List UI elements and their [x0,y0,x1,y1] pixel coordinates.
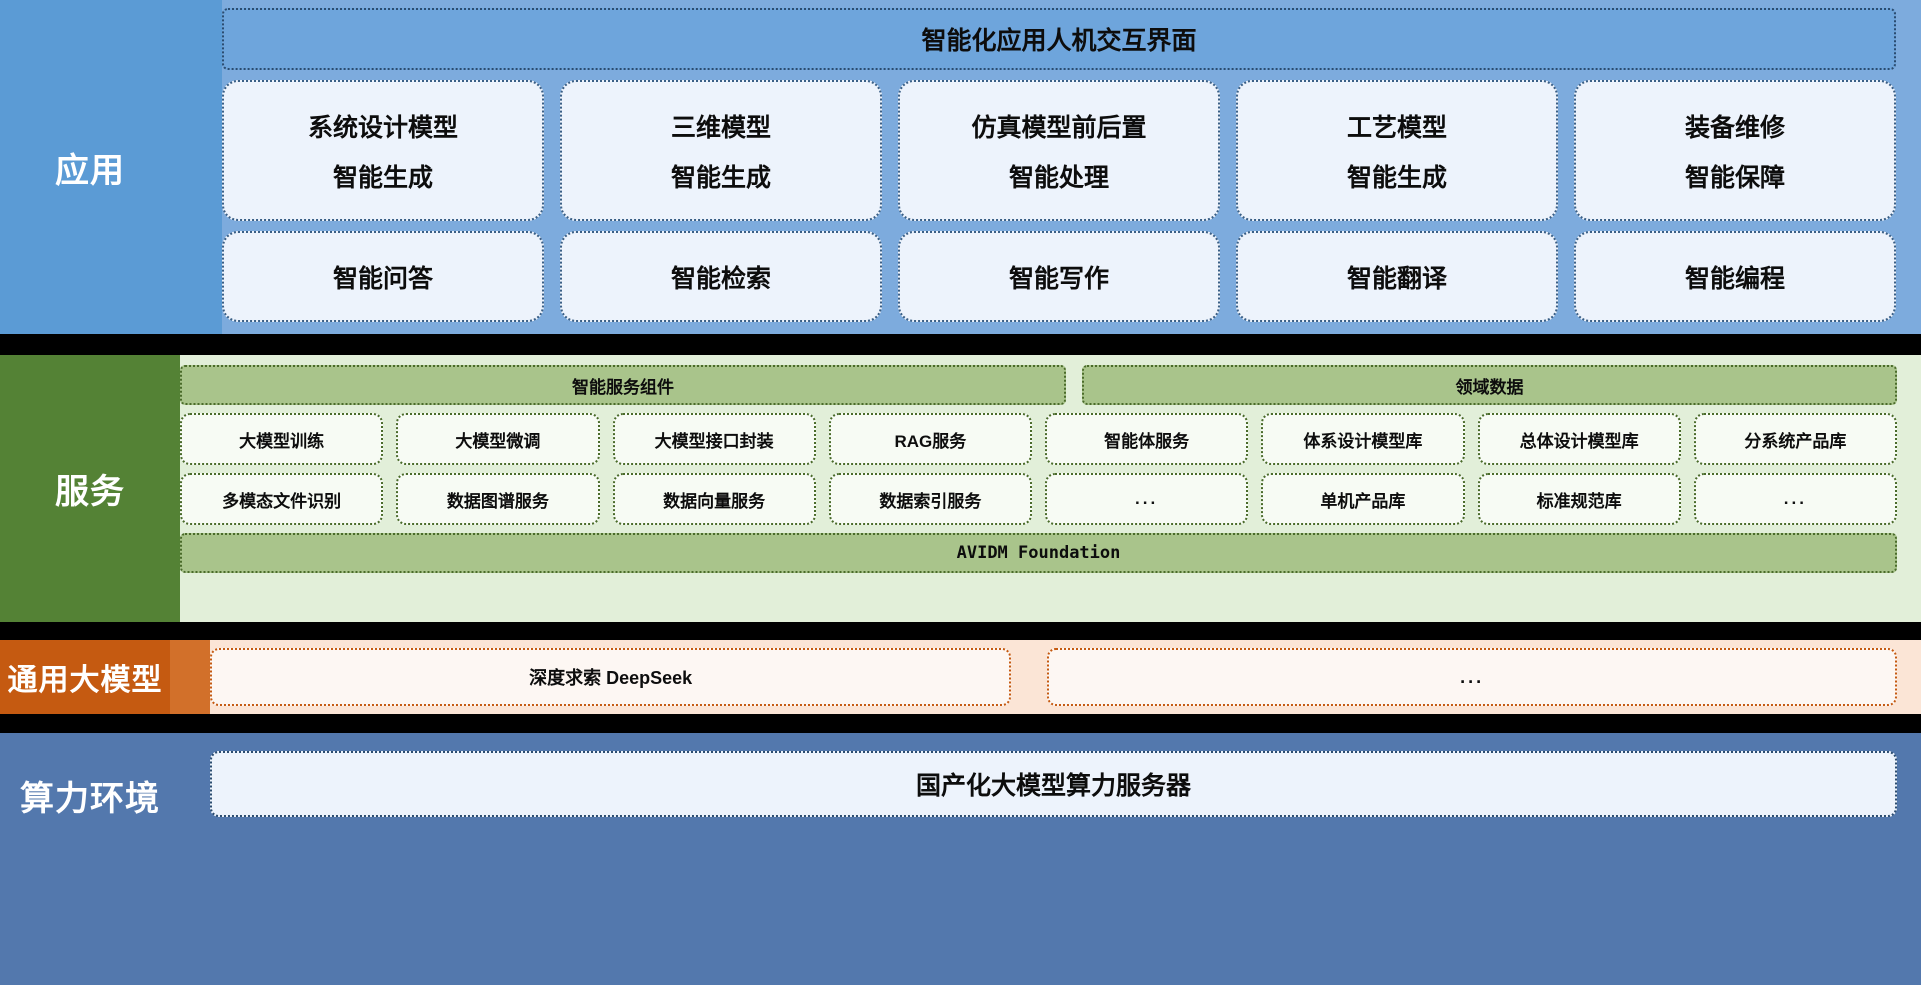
service-cell-ellipsis-components[interactable]: ... [1045,473,1248,525]
app-card-line1: 系统设计模型 [308,108,458,144]
app-card-line1: 三维模型 [671,108,771,144]
general-model-card-deepseek[interactable]: 深度求索 DeepSeek [210,648,1011,706]
app-card-line1: 工艺模型 [1347,108,1447,144]
service-cell-standard-spec-library[interactable]: 标准规范库 [1478,473,1681,525]
app-card-line2: 智能生成 [1347,158,1447,194]
app-card-line1: 智能问答 [333,259,433,295]
app-card-line1: 智能写作 [1009,259,1109,295]
app-card-equipment-maintenance[interactable]: 装备维修 智能保障 [1574,80,1896,221]
compute-layer-label: 算力环境 [0,733,180,985]
general-model-layer-content: 深度求索 DeepSeek ... [210,640,1921,714]
general-model-card-ellipsis[interactable]: ... [1047,648,1897,706]
service-group-header-domain-data[interactable]: 领域数据 [1082,365,1897,405]
service-cell-row-1: 大模型训练 大模型微调 大模型接口封装 RAG服务 智能体服务 体系设计模型库 … [180,413,1897,465]
service-cell-overall-design-model-library[interactable]: 总体设计模型库 [1478,413,1681,465]
app-card-line2: 智能保障 [1685,158,1785,194]
general-model-layer-label-spacer [170,640,210,714]
application-layer: 应用 智能化应用人机交互界面 系统设计模型 智能生成 三维模型 智能生成 仿真模… [0,0,1921,334]
app-card-intelligent-writing[interactable]: 智能写作 [898,231,1220,322]
service-cell-ellipsis-domain-data[interactable]: ... [1694,473,1897,525]
service-cell-model-training[interactable]: 大模型训练 [180,413,383,465]
app-card-process-model[interactable]: 工艺模型 智能生成 [1236,80,1558,221]
service-cell-subsystem-product-library[interactable]: 分系统产品库 [1694,413,1897,465]
app-card-line1: 智能检索 [671,259,771,295]
app-card-line1: 智能翻译 [1347,259,1447,295]
service-group-header-components[interactable]: 智能服务组件 [180,365,1066,405]
service-group-header-row: 智能服务组件 领域数据 [180,365,1897,405]
app-card-intelligent-translation[interactable]: 智能翻译 [1236,231,1558,322]
app-card-intelligent-programming[interactable]: 智能编程 [1574,231,1896,322]
service-cell-model-api-wrapper[interactable]: 大模型接口封装 [613,413,816,465]
application-layer-content: 智能化应用人机交互界面 系统设计模型 智能生成 三维模型 智能生成 仿真模型前后… [222,0,1921,334]
interaction-interface-banner[interactable]: 智能化应用人机交互界面 [222,8,1896,70]
avidm-foundation-bar[interactable]: AVIDM Foundation [180,533,1897,573]
app-card-line1: 仿真模型前后置 [971,108,1146,144]
app-card-line1: 装备维修 [1685,108,1785,144]
service-cell-architecture-model-library[interactable]: 体系设计模型库 [1261,413,1464,465]
general-model-layer-label: 通用大模型 [0,640,170,714]
service-cell-rag-service[interactable]: RAG服务 [829,413,1032,465]
application-card-row-2: 智能问答 智能检索 智能写作 智能翻译 智能编程 [222,231,1896,322]
service-cell-vector-service[interactable]: 数据向量服务 [613,473,816,525]
service-layer: 服务 智能服务组件 领域数据 大模型训练 大模型微调 大模型接口封装 RAG服务… [0,355,1921,622]
service-cell-row-2: 多模态文件识别 数据图谱服务 数据向量服务 数据索引服务 ... 单机产品库 标… [180,473,1897,525]
app-card-intelligent-qa[interactable]: 智能问答 [222,231,544,322]
app-card-line2: 智能生成 [333,158,433,194]
compute-layer-label-spacer [180,733,210,985]
app-card-line2: 智能生成 [671,158,771,194]
app-card-line1: 智能编程 [1685,259,1785,295]
service-cell-agent-service[interactable]: 智能体服务 [1045,413,1248,465]
application-card-row-1: 系统设计模型 智能生成 三维模型 智能生成 仿真模型前后置 智能处理 工艺模型 … [222,80,1896,221]
service-cell-multimodal-recognition[interactable]: 多模态文件识别 [180,473,383,525]
compute-card-domestic-server[interactable]: 国产化大模型算力服务器 [210,751,1897,817]
service-layer-content: 智能服务组件 领域数据 大模型训练 大模型微调 大模型接口封装 RAG服务 智能… [180,355,1921,622]
application-layer-label: 应用 [0,0,180,334]
service-cell-model-finetune[interactable]: 大模型微调 [396,413,599,465]
app-card-system-design-model[interactable]: 系统设计模型 智能生成 [222,80,544,221]
service-cell-index-service[interactable]: 数据索引服务 [829,473,1032,525]
app-card-3d-model[interactable]: 三维模型 智能生成 [560,80,882,221]
app-card-intelligent-search[interactable]: 智能检索 [560,231,882,322]
app-card-line2: 智能处理 [1009,158,1109,194]
application-layer-label-spacer [180,0,222,334]
app-card-simulation-model[interactable]: 仿真模型前后置 智能处理 [898,80,1220,221]
compute-layer-content: 国产化大模型算力服务器 [210,733,1921,985]
service-cell-knowledge-graph[interactable]: 数据图谱服务 [396,473,599,525]
service-layer-label: 服务 [0,355,180,622]
general-model-layer: 通用大模型 深度求索 DeepSeek ... [0,640,1921,714]
service-cell-standalone-product-library[interactable]: 单机产品库 [1261,473,1464,525]
compute-layer: 算力环境 国产化大模型算力服务器 [0,733,1921,985]
architecture-diagram: 应用 智能化应用人机交互界面 系统设计模型 智能生成 三维模型 智能生成 仿真模… [0,0,1921,985]
